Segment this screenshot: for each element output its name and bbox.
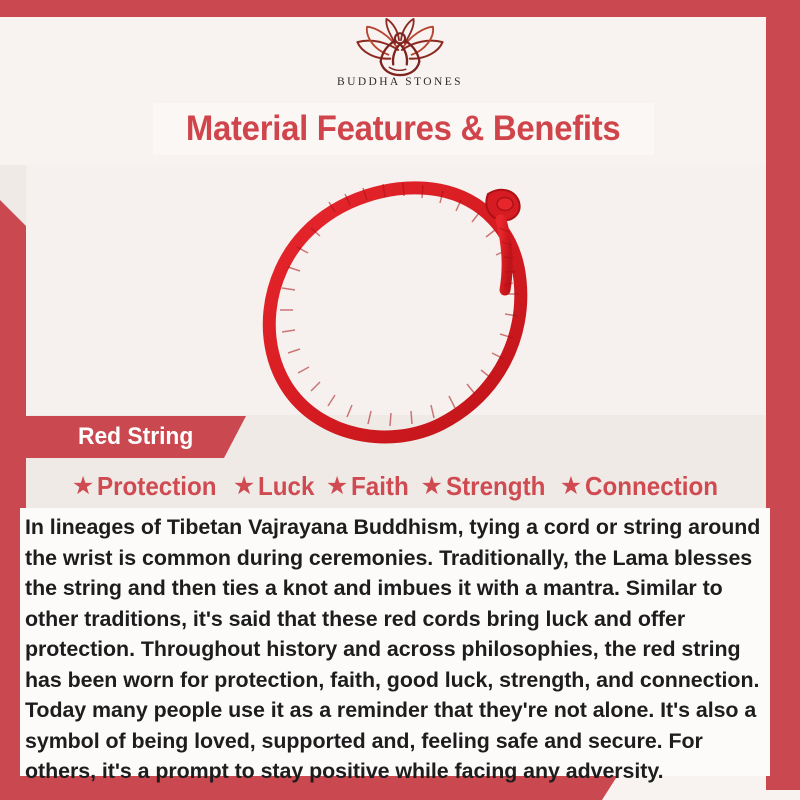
star-icon: ★ [72,474,94,499]
infographic-page: BUDDHA STONES Material Features & Benefi… [0,0,800,800]
benefit-label: Protection [97,471,217,502]
benefit-label: Luck [258,471,314,502]
product-name-label: Red String [78,423,193,451]
red-string-bracelet-image [243,168,573,453]
brand-logo: BUDDHA STONES [0,17,800,101]
star-icon: ★ [233,474,255,499]
page-title-banner: Material Features & Benefits [153,103,654,155]
description-text: In lineages of Tibetan Vajrayana Buddhis… [25,512,770,787]
brand-wordmark: BUDDHA STONES [337,76,463,88]
benefit-item-connection: ★ Connection [560,471,728,502]
lotus-meditation-icon [336,17,464,77]
benefit-label: Connection [585,471,718,502]
product-name-ribbon: Red String [16,416,246,458]
right-accent-band [766,0,800,790]
top-accent-band [0,0,800,17]
benefit-item-strength: ★ Strength [420,471,552,502]
star-icon: ★ [326,474,348,499]
benefit-item-protection: ★ Protection [72,471,226,502]
benefit-label: Strength [446,471,545,502]
star-icon: ★ [420,474,442,499]
benefit-item-luck: ★ Luck [233,471,319,502]
benefits-row: ★ Protection ★ Luck ★ Faith ★ Strength ★… [26,466,774,506]
star-icon: ★ [560,474,582,499]
benefit-label: Faith [351,471,409,502]
benefit-item-faith: ★ Faith [326,471,414,502]
page-title: Material Features & Benefits [186,109,621,149]
